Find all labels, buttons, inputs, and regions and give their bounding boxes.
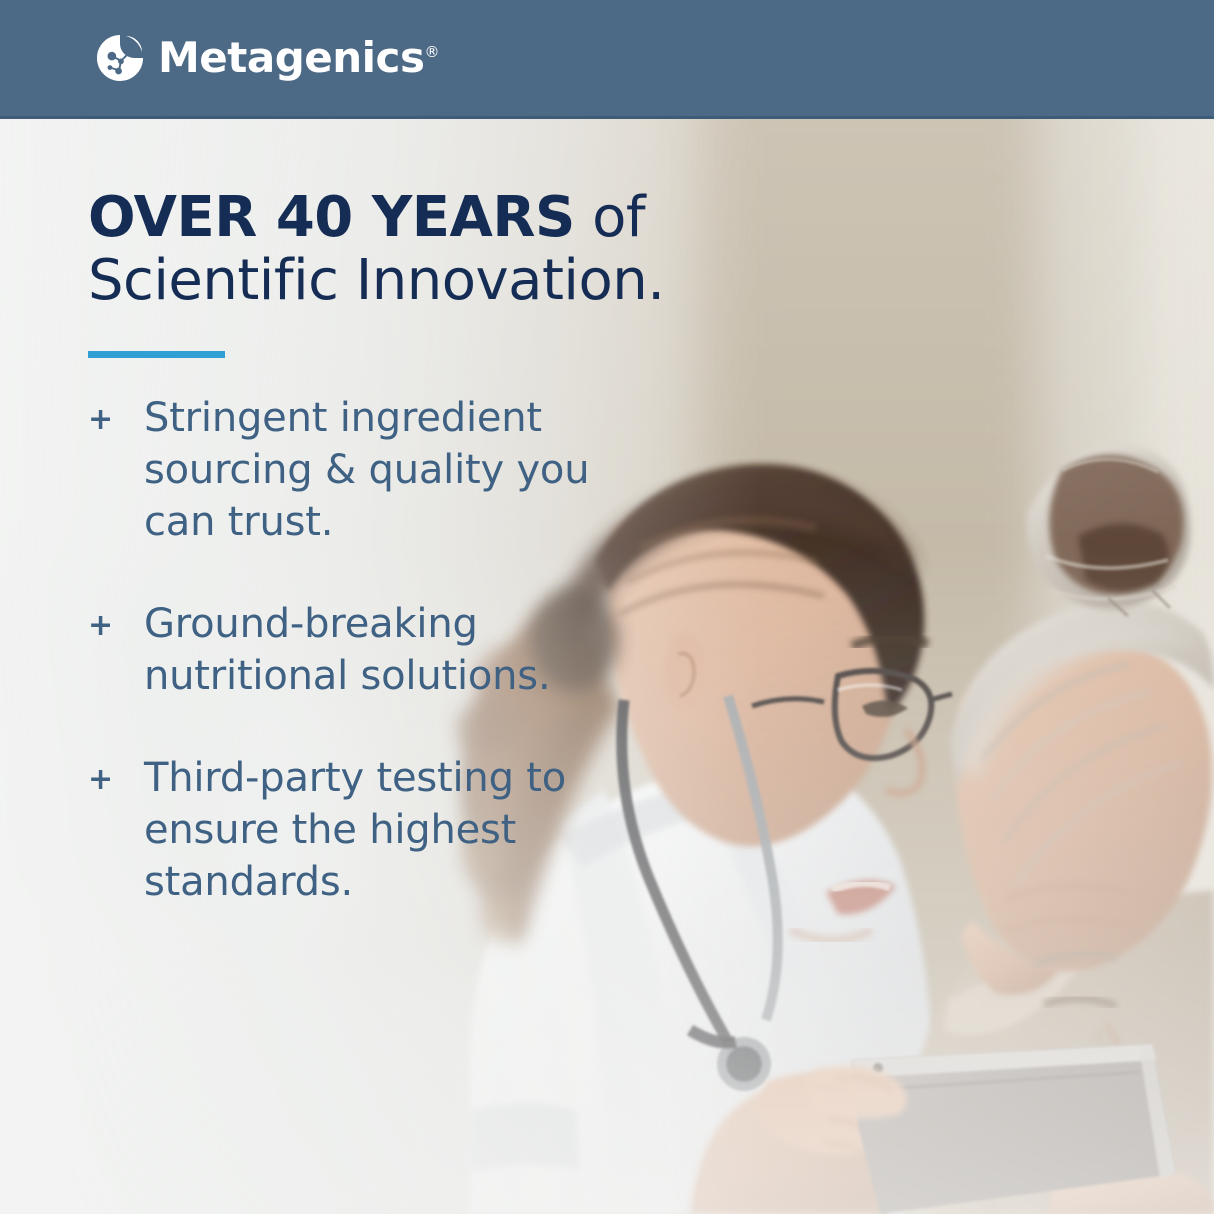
registered-trademark-symbol: ® bbox=[424, 43, 439, 61]
marketing-banner: Metagenics® OVER 40 YEARS of Scientific … bbox=[0, 0, 1214, 1214]
brand-logo[interactable]: Metagenics® bbox=[96, 34, 439, 82]
brand-header-underline bbox=[0, 116, 1214, 119]
list-item-label: Stringent ingredient sourcing & quality … bbox=[144, 392, 648, 548]
list-item-label: Ground-breaking nutritional solutions. bbox=[144, 598, 648, 702]
plus-icon: + bbox=[88, 598, 144, 641]
plus-icon: + bbox=[88, 752, 144, 795]
brand-header-bar: Metagenics® bbox=[0, 0, 1214, 116]
headline-emphasis: OVER 40 YEARS bbox=[88, 185, 575, 250]
headline-line-two: Scientific Innovation. bbox=[88, 249, 708, 312]
brand-wordmark: Metagenics® bbox=[158, 37, 439, 79]
list-item: + Ground-breaking nutritional solutions. bbox=[88, 598, 648, 702]
headline-connector: of bbox=[575, 185, 645, 250]
plus-icon: + bbox=[88, 392, 144, 435]
accent-rule bbox=[88, 351, 225, 358]
brand-name: Metagenics bbox=[158, 33, 424, 82]
list-item: + Stringent ingredient sourcing & qualit… bbox=[88, 392, 648, 548]
feature-list: + Stringent ingredient sourcing & qualit… bbox=[88, 392, 648, 908]
list-item: + Third-party testing to ensure the high… bbox=[88, 752, 648, 908]
page-title: OVER 40 YEARS of Scientific Innovation. bbox=[88, 186, 708, 313]
list-item-label: Third-party testing to ensure the highes… bbox=[144, 752, 648, 908]
metagenics-molecule-logo-icon bbox=[96, 34, 144, 82]
